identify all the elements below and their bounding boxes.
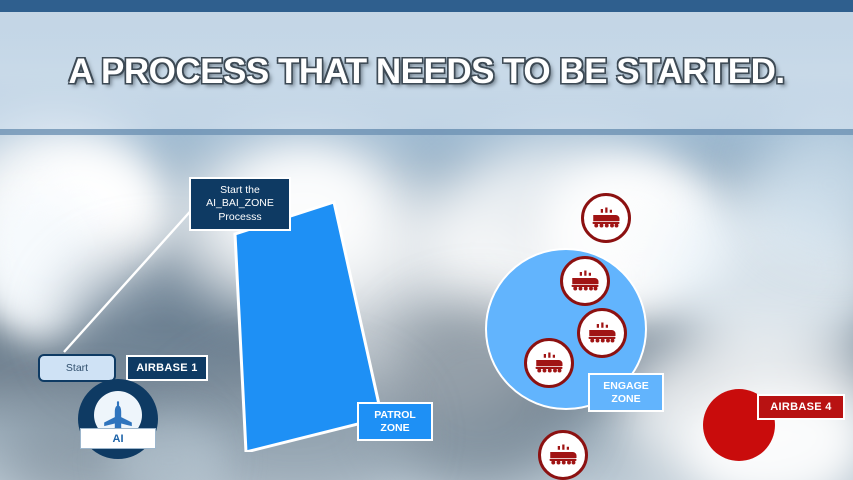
title-underline-bar <box>0 129 853 135</box>
armored-vehicle-icon <box>587 322 617 344</box>
enemy-unit-5[interactable] <box>538 430 588 480</box>
callout-line-3: Processs <box>218 211 261 225</box>
start-button-label: Start <box>66 362 88 374</box>
enemy-unit-4[interactable] <box>524 338 574 388</box>
armored-vehicle-icon <box>591 207 621 229</box>
patrol-zone-label-line1: PATROL <box>374 409 416 422</box>
enemy-unit-2[interactable] <box>560 256 610 306</box>
patrol-zone-label[interactable]: PATROL ZONE <box>357 402 433 441</box>
start-process-callout[interactable]: Start the AI_BAI_ZONE Processs <box>189 177 291 231</box>
armored-vehicle-icon <box>534 352 564 374</box>
airbase-4-text: AIRBASE 4 <box>770 401 831 413</box>
callout-line-1: Start the <box>220 184 260 198</box>
start-button[interactable]: Start <box>38 354 116 382</box>
airbase-1-label[interactable]: AIRBASE 1 <box>126 355 208 381</box>
top-accent-bar <box>0 0 853 12</box>
airbase-1-text: AIRBASE 1 <box>136 362 197 374</box>
engage-zone-label-line1: ENGAGE <box>603 380 649 393</box>
airbase-4-label[interactable]: AIRBASE 4 <box>757 394 845 420</box>
enemy-unit-1[interactable] <box>581 193 631 243</box>
ai-unit-label[interactable]: AI <box>80 428 156 449</box>
slide-canvas: A PROCESS THAT NEEDS TO BE STARTED. Star… <box>0 0 853 480</box>
armored-vehicle-icon <box>548 444 578 466</box>
patrol-zone-label-line2: ZONE <box>380 422 409 435</box>
enemy-unit-3[interactable] <box>577 308 627 358</box>
page-title: A PROCESS THAT NEEDS TO BE STARTED. <box>0 52 853 92</box>
ai-unit-label-text: AI <box>113 433 124 445</box>
callout-line-2: AI_BAI_ZONE <box>206 197 274 211</box>
engage-zone-label[interactable]: ENGAGE ZONE <box>588 373 664 412</box>
engage-zone-label-line2: ZONE <box>611 393 640 406</box>
armored-vehicle-icon <box>570 270 600 292</box>
